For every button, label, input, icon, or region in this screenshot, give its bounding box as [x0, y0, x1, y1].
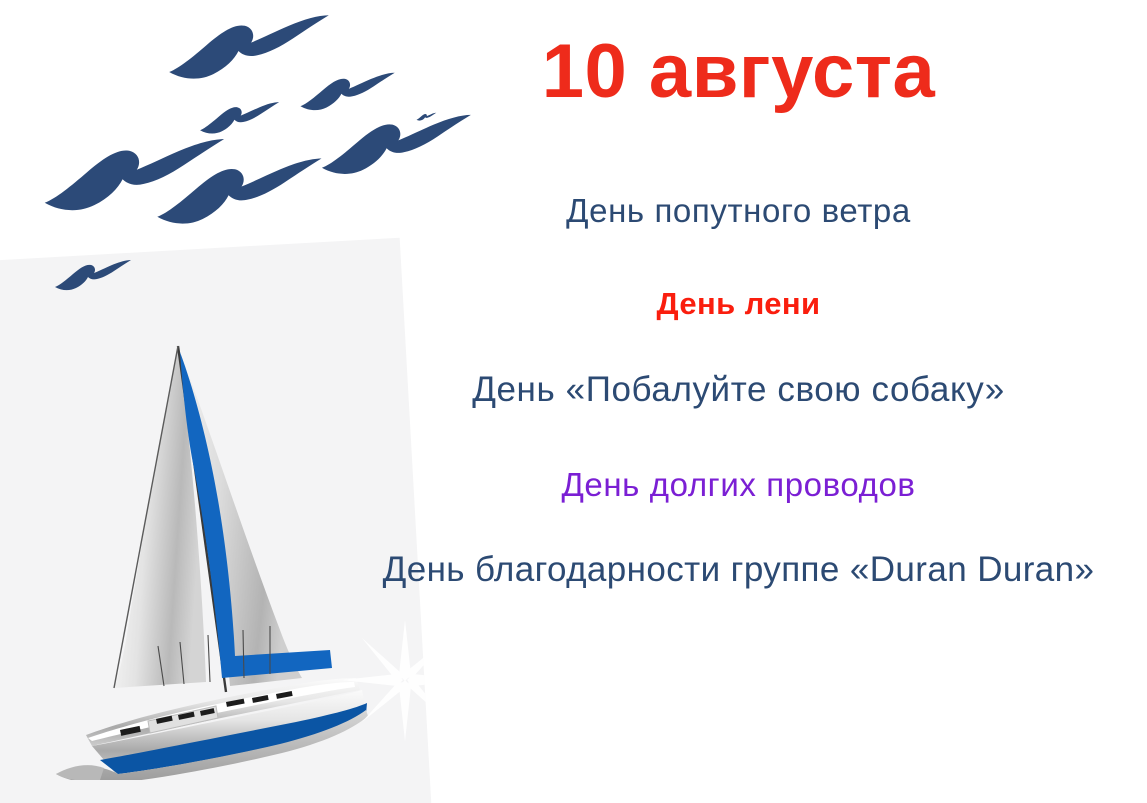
holiday-item-3: День долгих проводов — [330, 466, 1147, 504]
bow — [56, 765, 104, 780]
holiday-item-1: День лени — [330, 286, 1147, 322]
seagull-icon — [55, 260, 131, 290]
seagull-icon — [157, 158, 321, 223]
holiday-item-0: День попутного ветра — [330, 192, 1147, 230]
holiday-item-4: День благодарности группе «Duran Duran» — [330, 550, 1147, 590]
seagull-icon — [169, 15, 329, 78]
poster-canvas: 10 августа День попутного ветра День лен… — [0, 0, 1147, 803]
seagull-icon — [200, 102, 279, 133]
text-column: 10 августа День попутного ветра День лен… — [330, 0, 1147, 803]
page-title: 10 августа — [330, 34, 1147, 110]
holiday-item-2: День «Побалуйте свою собаку» — [330, 370, 1147, 410]
